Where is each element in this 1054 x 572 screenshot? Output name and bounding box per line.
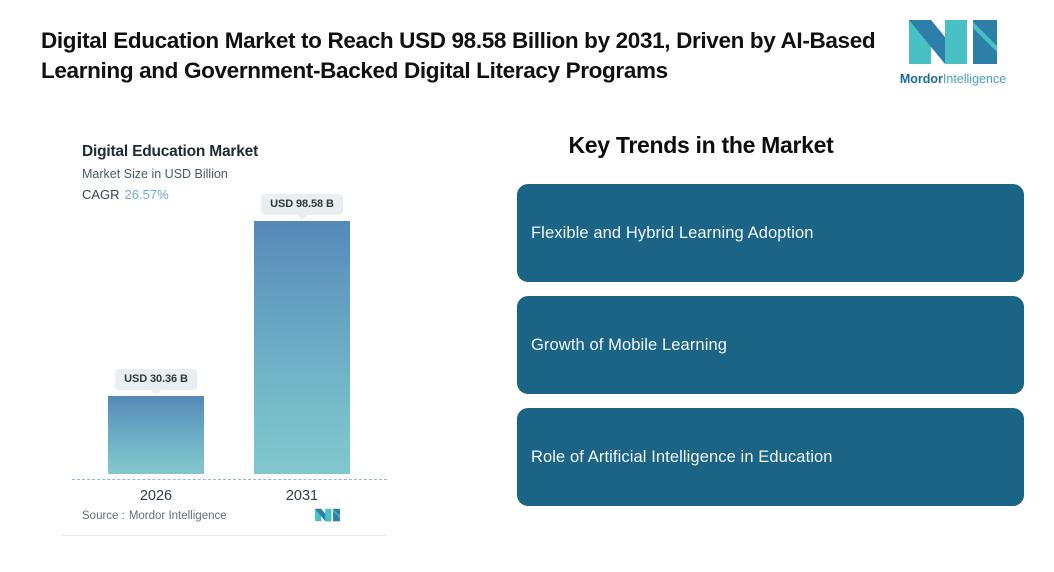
bar-chart-plot: USD 30.36 B 2026 USD 98.58 B 2031: [58, 204, 390, 474]
brand-logo: MordorIntelligence: [897, 16, 1009, 92]
brand-word-primary: Mordor: [900, 72, 943, 86]
chart-title: Digital Education Market: [82, 143, 258, 161]
source-label: Source :: [82, 510, 125, 522]
reference-dashed-line: [72, 479, 387, 480]
infographic-page: Digital Education Market to Reach USD 98…: [0, 0, 1054, 572]
cagr-value: 26.57%: [125, 187, 169, 202]
key-trends-panel: Key Trends in the Market Flexible and Hy…: [517, 130, 1024, 506]
mordor-intelligence-monogram-icon: [905, 16, 1001, 68]
trend-card[interactable]: Growth of Mobile Learning: [517, 296, 1024, 394]
chart-cagr: CAGR26.57%: [82, 187, 169, 202]
chart-divider: [62, 535, 386, 536]
key-trends-list: Flexible and Hybrid Learning Adoption Gr…: [517, 184, 1024, 506]
bar-2031[interactable]: [254, 221, 350, 474]
bar-2026[interactable]: [108, 396, 204, 474]
source-monogram-icon: [314, 507, 341, 523]
trend-card-label: Flexible and Hybrid Learning Adoption: [517, 224, 814, 243]
chart-source: Source :Mordor Intelligence: [82, 510, 227, 522]
source-name: Mordor Intelligence: [129, 510, 227, 522]
bar-value-label: USD 98.58 B: [261, 194, 343, 215]
cagr-label: CAGR: [82, 187, 120, 202]
x-axis-label-2026: 2026: [140, 488, 172, 504]
trend-card-label: Growth of Mobile Learning: [517, 336, 727, 355]
bar-value-label: USD 30.36 B: [115, 369, 197, 390]
page-title: Digital Education Market to Reach USD 98…: [41, 26, 886, 86]
trend-card-label: Role of Artificial Intelligence in Educa…: [517, 448, 833, 467]
trend-card[interactable]: Role of Artificial Intelligence in Educa…: [517, 408, 1024, 506]
brand-wordmark: MordorIntelligence: [897, 72, 1009, 87]
chart-subtitle: Market Size in USD Billion: [82, 167, 228, 181]
x-axis-label-2031: 2031: [286, 488, 318, 504]
brand-word-secondary: Intelligence: [943, 72, 1006, 86]
key-trends-heading: Key Trends in the Market: [531, 130, 871, 160]
page-header: Digital Education Market to Reach USD 98…: [0, 0, 1054, 108]
trend-card[interactable]: Flexible and Hybrid Learning Adoption: [517, 184, 1024, 282]
chart-panel: Digital Education Market Market Size in …: [58, 120, 390, 540]
